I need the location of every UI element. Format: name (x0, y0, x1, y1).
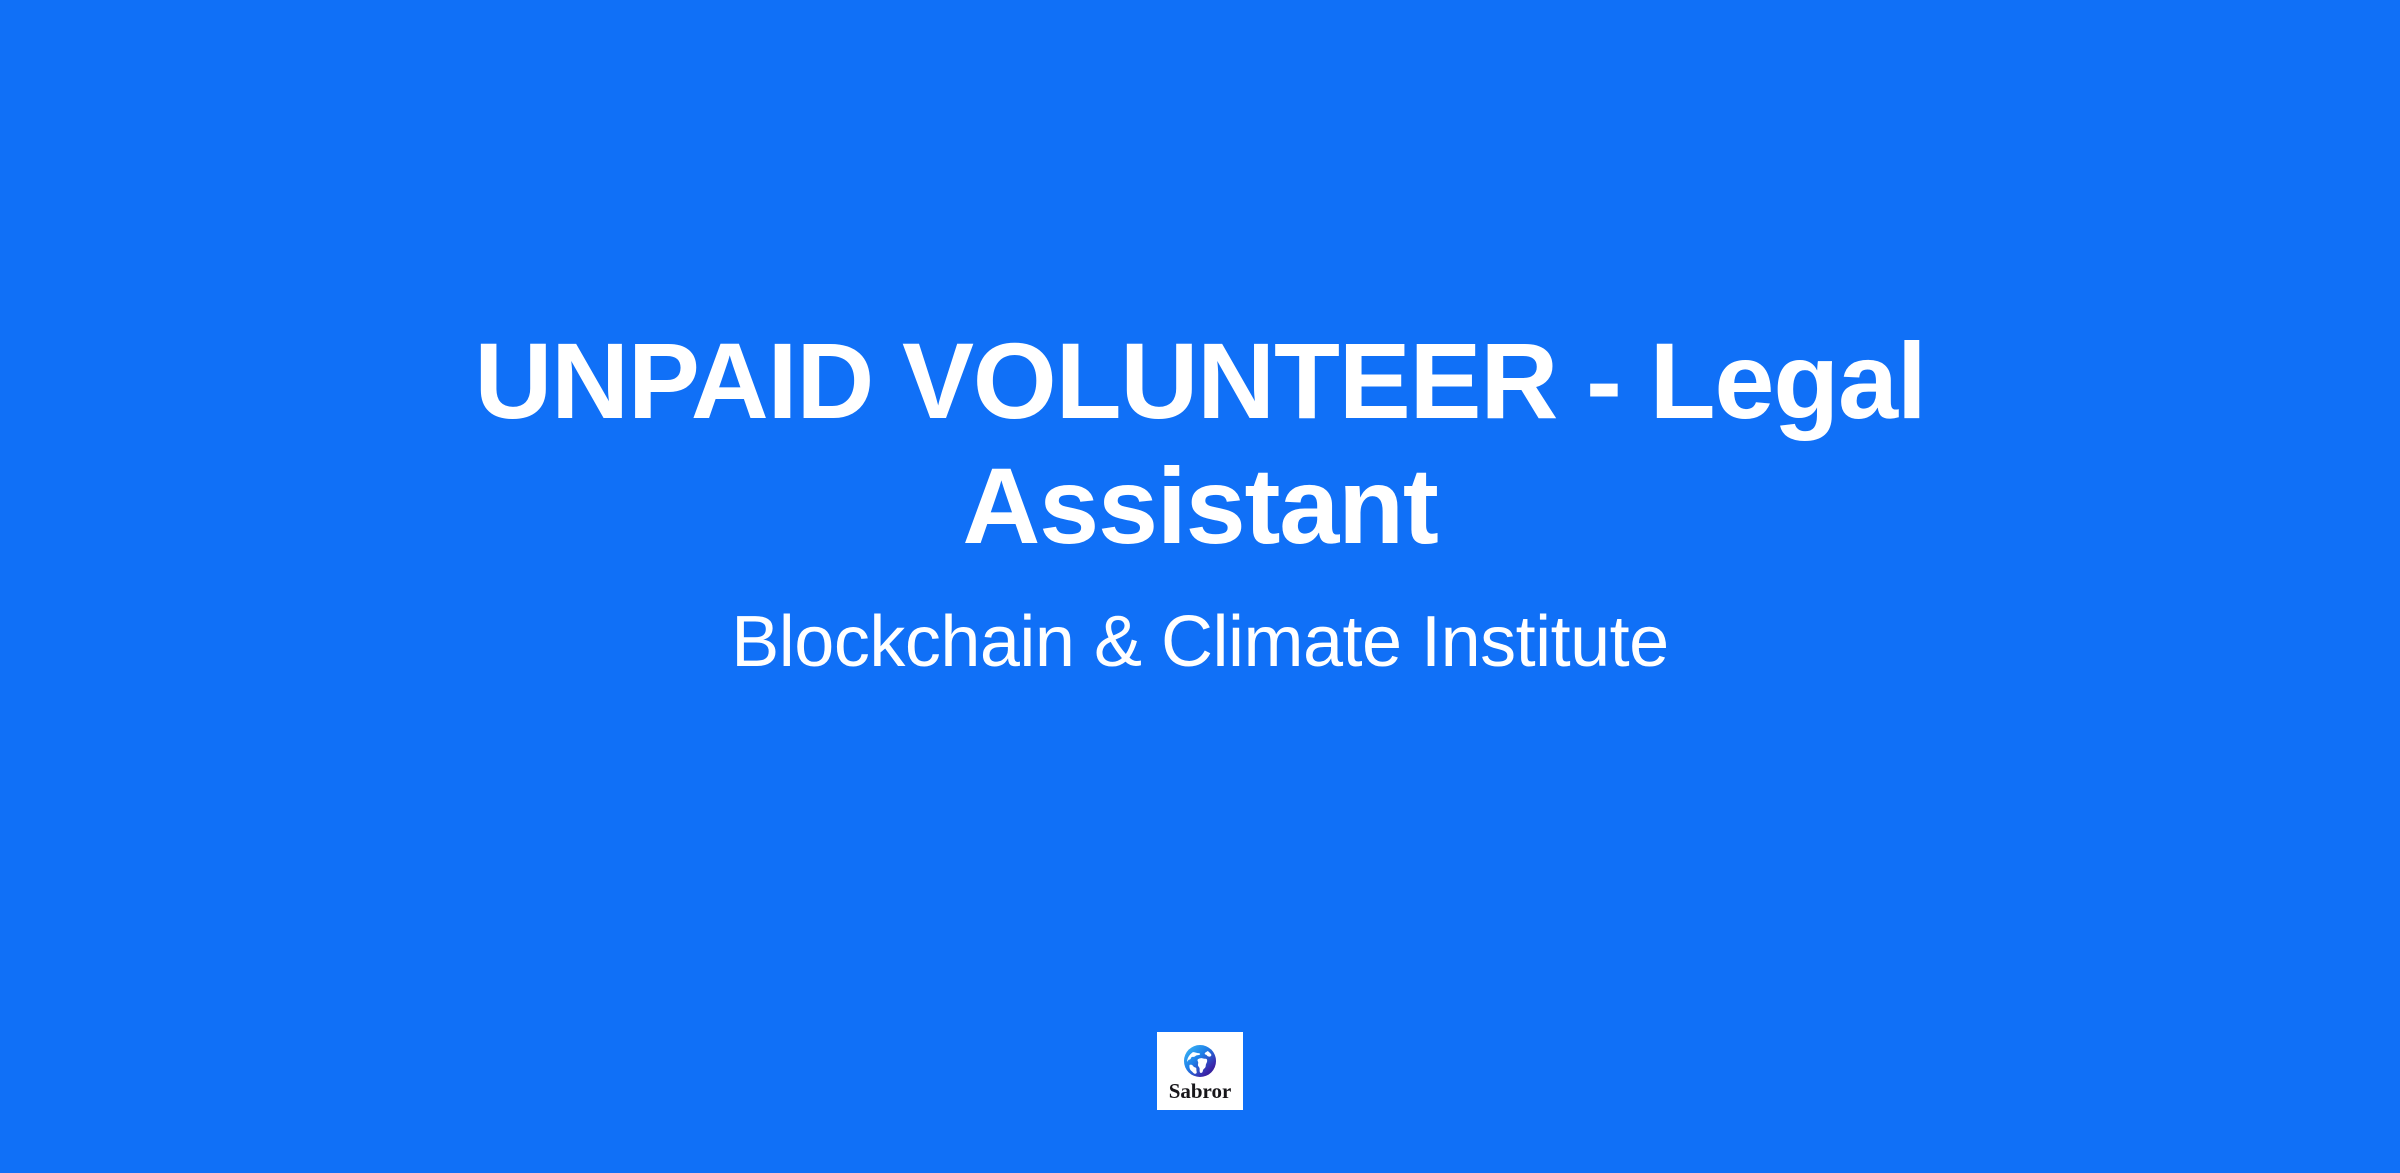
logo-card: Sabror (1157, 1032, 1243, 1110)
brand-name-label: Sabror (1169, 1081, 1232, 1102)
brand-logo: Sabror (1157, 1032, 1243, 1110)
job-posting-slide: UNPAID VOLUNTEER - Legal Assistant Block… (0, 0, 2400, 1173)
hero-section: UNPAID VOLUNTEER - Legal Assistant Block… (0, 0, 2400, 1173)
organization-name: Blockchain & Climate Institute (340, 569, 2060, 685)
title-block: UNPAID VOLUNTEER - Legal Assistant Block… (340, 318, 2060, 685)
page-title: UNPAID VOLUNTEER - Legal Assistant (340, 318, 2060, 569)
globe-icon (1181, 1042, 1219, 1080)
